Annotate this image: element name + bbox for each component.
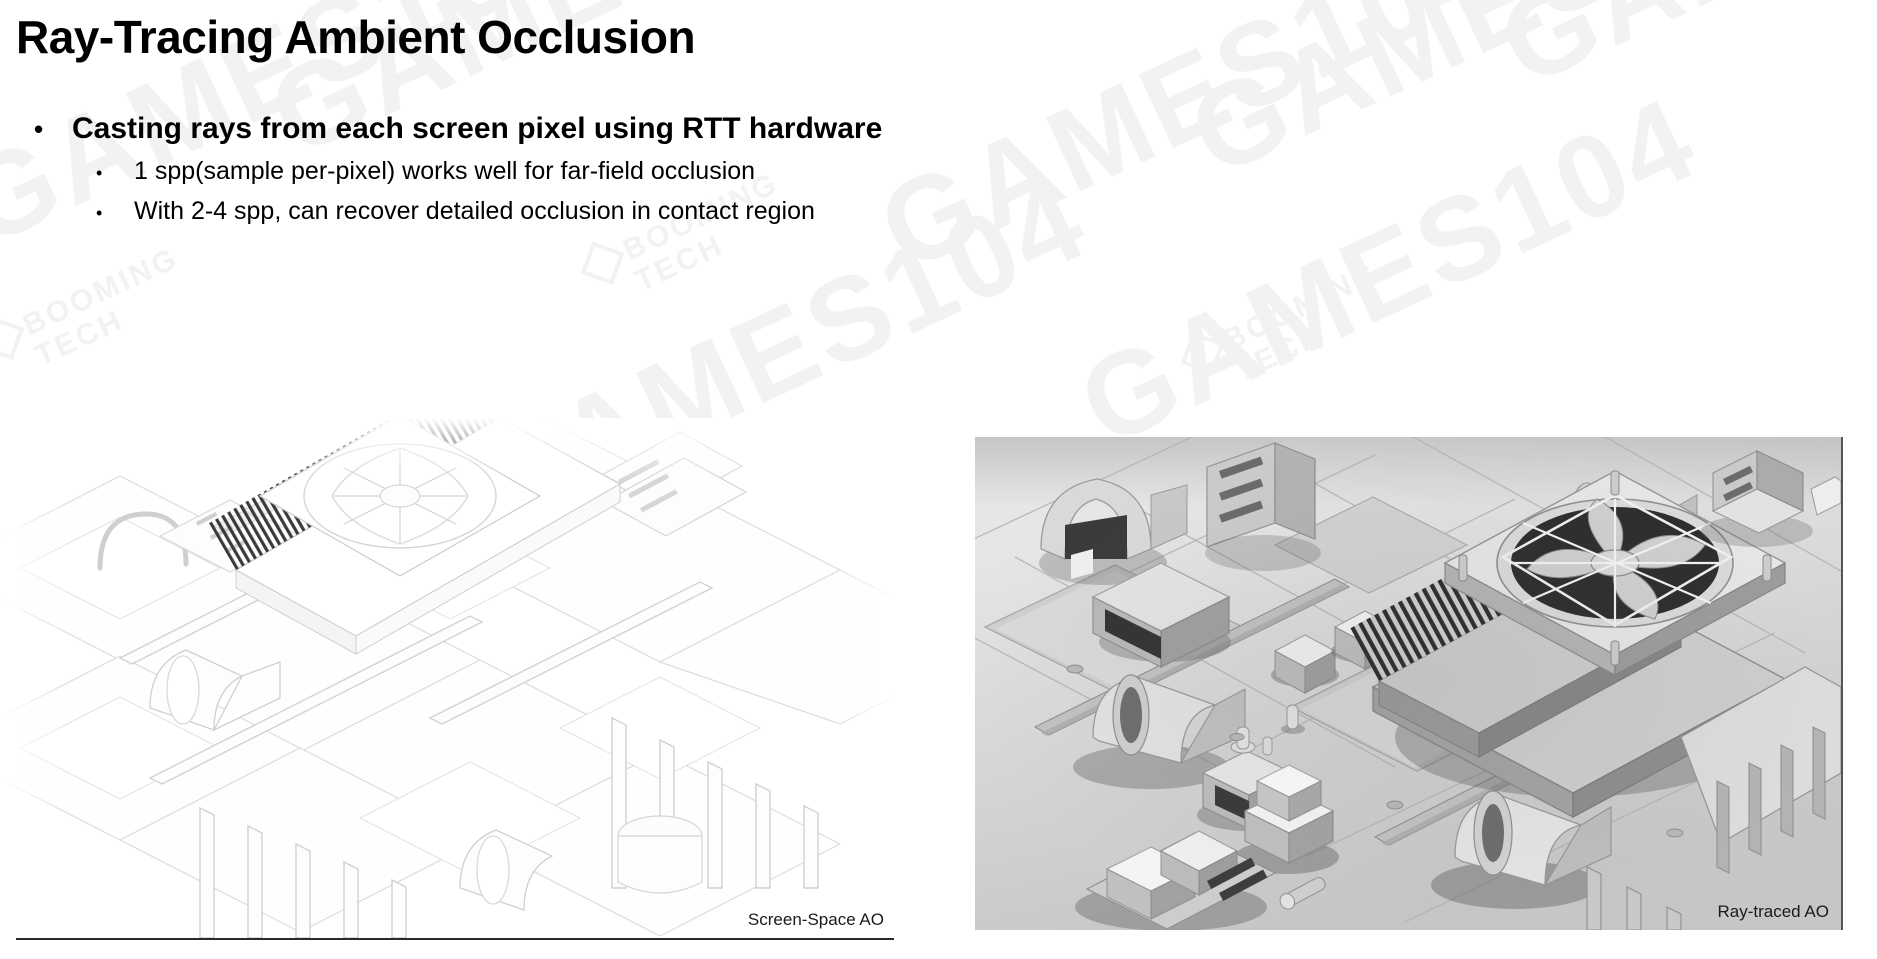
figure-ray-traced-ao: Ray-traced AO (975, 437, 1843, 930)
booming-logo-icon (0, 316, 24, 360)
bullet-level2-text: 1 spp(sample per-pixel) works well for f… (134, 157, 755, 186)
watermark-booming-line1: BOOMING (19, 243, 184, 342)
watermark-games104: GAMES104 (860, 0, 1517, 298)
bullet-list: • Casting rays from each screen pixel us… (0, 112, 882, 226)
bullet-marker-icon: • (34, 116, 60, 142)
bullet-level1: • Casting rays from each screen pixel us… (34, 112, 882, 146)
bullet-marker-icon: • (96, 164, 114, 182)
booming-logo-icon (581, 241, 625, 285)
figure-screen-space-ao: Screen-Space AO (0, 418, 896, 938)
bullet-level2: • 1 spp(sample per-pixel) works well for… (96, 157, 882, 186)
booming-logo-icon (1181, 331, 1225, 375)
figure-caption: Screen-Space AO (748, 910, 884, 930)
watermark-games104: GAMES104 (1060, 70, 1717, 473)
bullet-level1-text: Casting rays from each screen pixel usin… (72, 112, 882, 146)
page-title: Ray-Tracing Ambient Occlusion (16, 10, 695, 64)
watermark-booming-line2: TECH (0, 272, 198, 389)
screen-space-ao-render (0, 418, 896, 938)
watermark-booming-line2: TECH (1194, 287, 1397, 404)
bullet-level2-text: With 2-4 spp, can recover detailed occlu… (134, 197, 815, 226)
bullet-level2: • With 2-4 spp, can recover detailed occ… (96, 197, 882, 226)
watermark-booming-line1: BOOMING (1219, 258, 1384, 357)
ray-traced-ao-render (975, 437, 1841, 930)
watermark-games104: GAMES104 (1170, 0, 1827, 203)
watermark-booming-tech: BOOMING TECH (0, 241, 198, 389)
figure-caption: Ray-traced AO (1718, 902, 1830, 922)
figure-divider-rule (16, 938, 894, 940)
watermark-booming-tech: BOOMING TECH (1180, 256, 1398, 404)
bullet-marker-icon: • (96, 204, 114, 222)
watermark-games104: GAMES104 (1480, 0, 1877, 113)
